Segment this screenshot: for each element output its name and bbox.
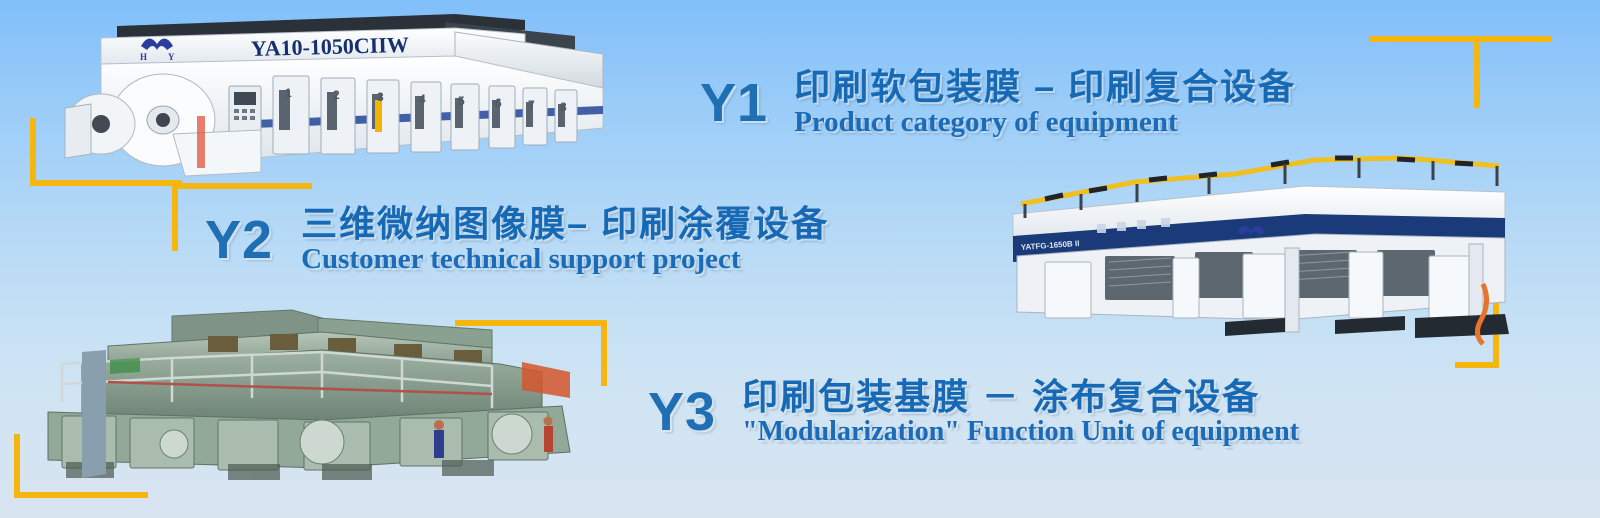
bracket-top-right-vertical [1474,36,1480,108]
bracket-right-horizontal [1455,362,1499,368]
bracket-left-upper-vertical [30,118,36,186]
svg-text:6: 6 [495,96,502,110]
entry-y1-chinese-title: 印刷软包装膜 – 印刷复合设备 [794,68,1296,107]
svg-text:Y: Y [168,52,175,62]
entry-y3-chinese-title: 印刷包装基膜 － 涂布复合设备 [742,378,1299,417]
entry-y1: Y1 印刷软包装膜 – 印刷复合设备 Product category of e… [700,68,1296,137]
entry-y2-code: Y2 [205,213,273,267]
machine-photo-green-coating-line [22,302,592,487]
svg-text:7: 7 [528,98,535,112]
svg-text:1: 1 [285,86,292,100]
machine-1-model-label: YA10-1050CIIW [250,32,409,61]
svg-text:4: 4 [419,92,426,106]
entry-y1-code: Y1 [700,76,768,130]
entry-y3: Y3 印刷包装基膜 － 涂布复合设备 "Modularization" Func… [648,378,1299,446]
entry-y3-english-subtitle: "Modularization" Function Unit of equipm… [742,417,1299,446]
bracket-y3-vertical [601,320,607,386]
svg-text:H: H [140,52,147,62]
bracket-y2-vertical [172,183,178,251]
svg-text:2: 2 [333,88,340,102]
bracket-y2-horizontal [172,183,312,189]
entry-y1-english-subtitle: Product category of equipment [794,107,1296,137]
product-banner: H Y YA10-1050CIIW 123 456 78 [0,0,1600,518]
svg-text:8: 8 [560,100,567,114]
svg-text:3: 3 [377,90,384,104]
bracket-left-upper-horizontal [30,180,182,186]
entry-y2-english-subtitle: Customer technical support project [301,244,829,274]
svg-text:5: 5 [458,94,465,108]
entry-y2: Y2 三维微纳图像膜– 印刷涂覆设备 Customer technical su… [205,205,829,274]
machine-photo-gravure-press: H Y YA10-1050CIIW 123 456 78 [55,8,615,178]
bracket-bottom-left-horizontal [14,492,148,498]
entry-y3-code: Y3 [648,385,716,439]
entry-y2-chinese-title: 三维微纳图像膜– 印刷涂覆设备 [301,205,829,244]
bracket-bottom-left-vertical [14,434,20,498]
machine-photo-coating-laminator: YATFG-1650B II [985,152,1525,352]
bracket-top-right-horizontal [1369,36,1552,42]
